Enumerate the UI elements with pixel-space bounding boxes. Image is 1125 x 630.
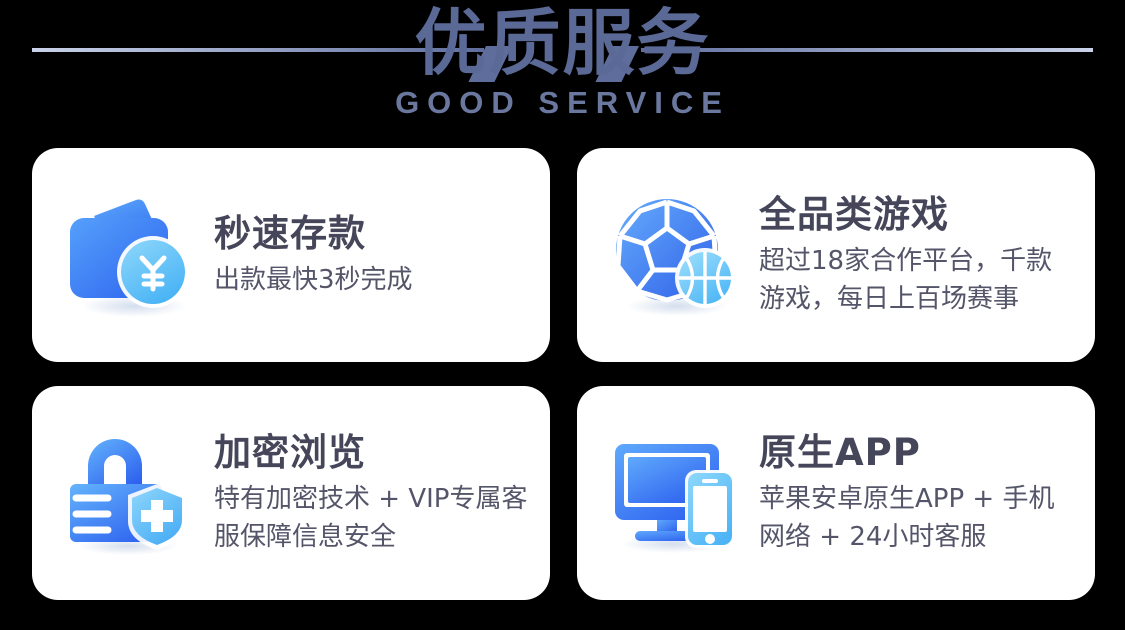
wallet-yen-icon <box>62 190 202 320</box>
feature-card-grid: 秒速存款 出款最快3秒完成 <box>32 148 1095 600</box>
page-subtitle: GOOD SERVICE <box>0 84 1125 122</box>
feature-card-text: 原生APP 苹果安卓原生APP + 手机网络 + 24小时客服 <box>759 430 1077 556</box>
lock-shield-icon <box>62 428 202 558</box>
feature-card-native-app[interactable]: 原生APP 苹果安卓原生APP + 手机网络 + 24小时客服 <box>577 386 1095 600</box>
card-description: 出款最快3秒完成 <box>214 261 532 299</box>
card-description: 超过18家合作平台，千款游戏，每日上百场赛事 <box>759 242 1077 318</box>
card-description: 苹果安卓原生APP + 手机网络 + 24小时客服 <box>759 480 1077 556</box>
page-title: 优质服务 <box>0 0 1125 86</box>
banner-header: 优质服务 GOOD SERVICE <box>0 0 1125 140</box>
feature-card-games[interactable]: 全品类游戏 超过18家合作平台，千款游戏，每日上百场赛事 <box>577 148 1095 362</box>
card-description: 特有加密技术 + VIP专属客服保障信息安全 <box>214 480 532 556</box>
card-title: 加密浏览 <box>214 430 532 476</box>
card-title: 秒速存款 <box>214 211 532 257</box>
card-title: 原生APP <box>759 430 1077 476</box>
feature-card-encryption[interactable]: 加密浏览 特有加密技术 + VIP专属客服保障信息安全 <box>32 386 550 600</box>
card-title: 全品类游戏 <box>759 192 1077 238</box>
feature-card-text: 全品类游戏 超过18家合作平台，千款游戏，每日上百场赛事 <box>759 192 1077 318</box>
soccer-basketball-icon <box>607 190 747 320</box>
header-title-block: 优质服务 GOOD SERVICE <box>0 0 1125 122</box>
feature-card-text: 秒速存款 出款最快3秒完成 <box>214 211 532 299</box>
monitor-phone-icon <box>607 428 747 558</box>
feature-card-deposit[interactable]: 秒速存款 出款最快3秒完成 <box>32 148 550 362</box>
good-service-banner: 优质服务 GOOD SERVICE <box>0 0 1125 630</box>
feature-card-text: 加密浏览 特有加密技术 + VIP专属客服保障信息安全 <box>214 430 532 556</box>
